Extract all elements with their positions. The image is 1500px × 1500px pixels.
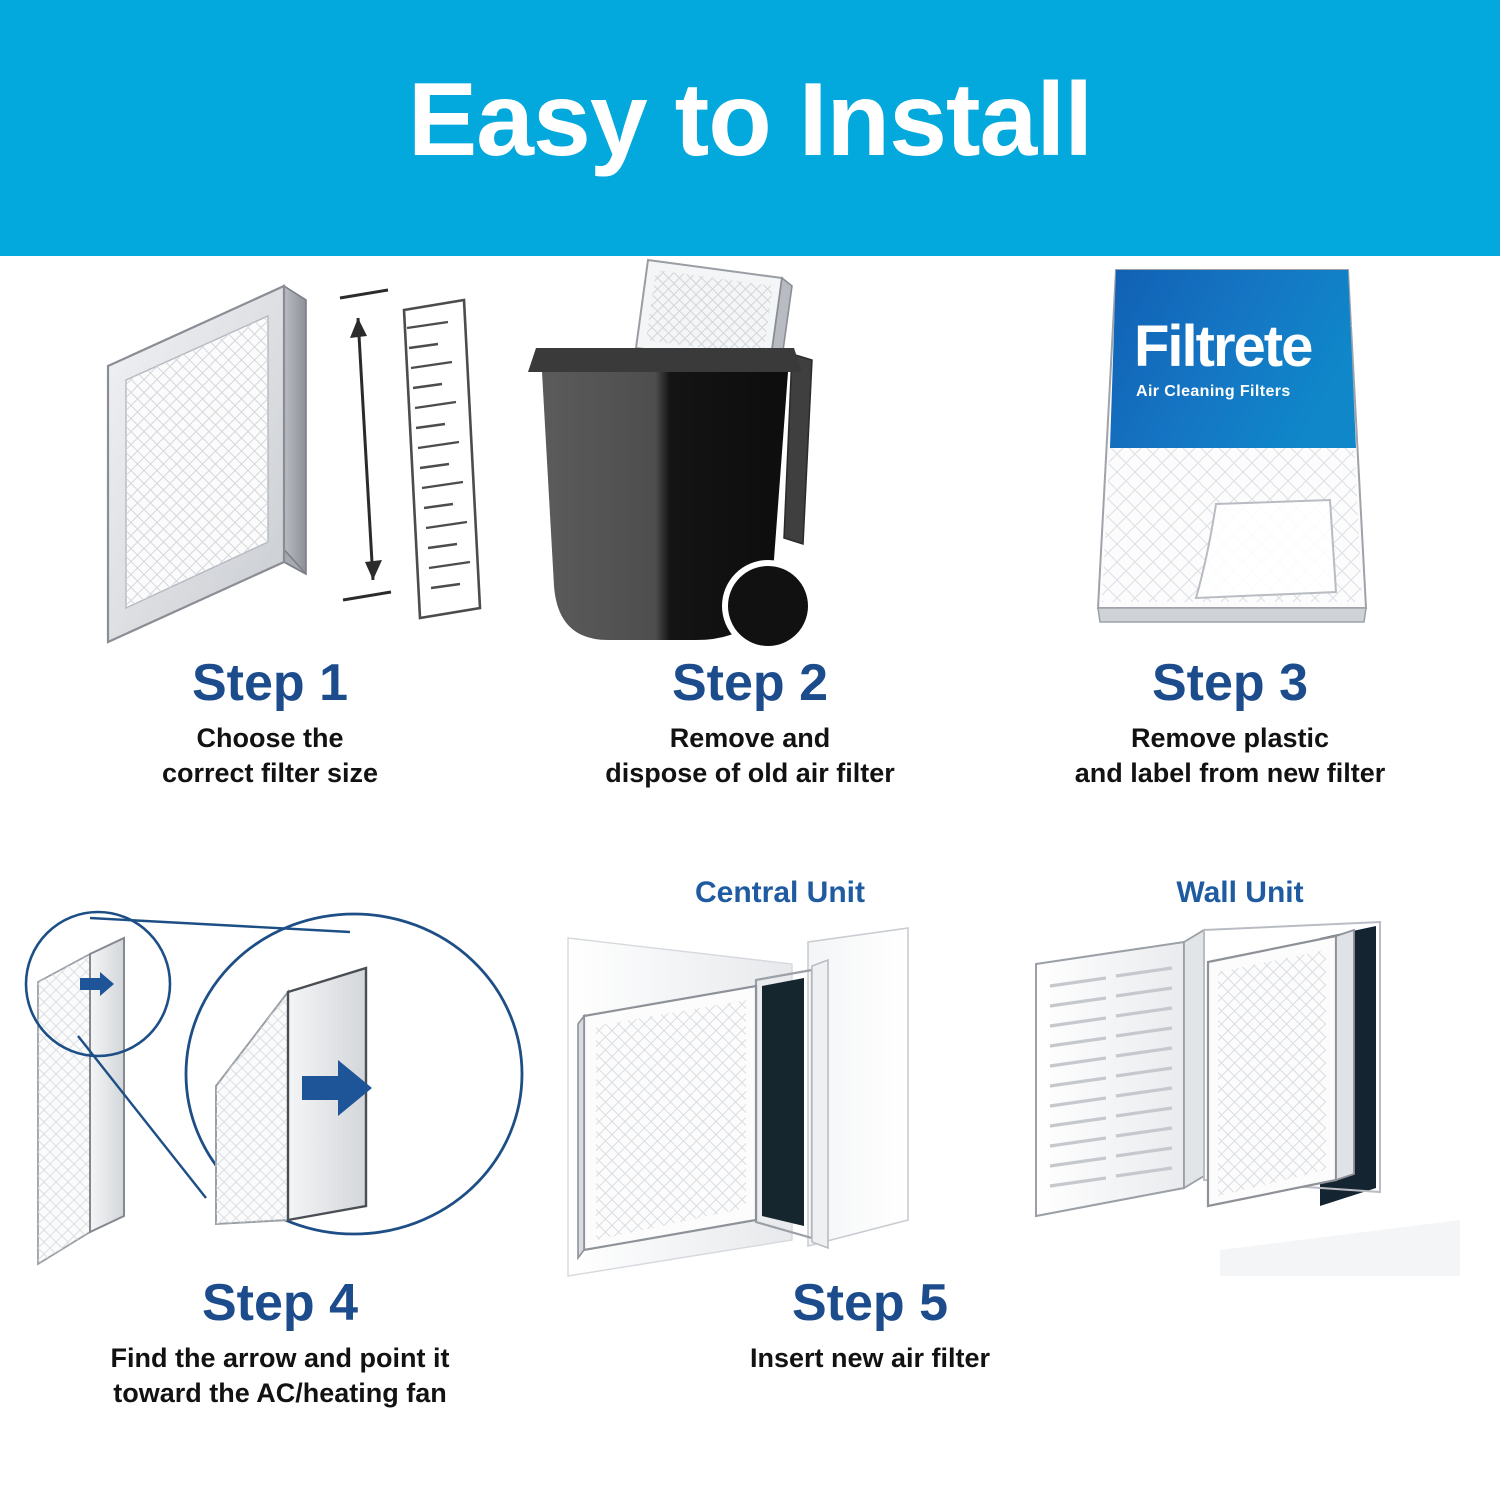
central-unit-icon <box>560 920 1000 1276</box>
package-trademark: ™ <box>1350 323 1366 340</box>
steps-row-bottom: Step 4 Find the arrow and point it towar… <box>0 876 1500 1500</box>
step-1-title: Step 1 <box>192 656 348 711</box>
step-5-illustration-group: Central Unit <box>560 876 1480 1276</box>
ruler-icon <box>404 300 480 618</box>
trash-bin-with-filter-icon <box>520 256 980 656</box>
step-4-caption: Find the arrow and point it toward the A… <box>111 1341 450 1412</box>
central-unit-block: Central Unit <box>560 876 1000 1276</box>
central-unit-label: Central Unit <box>560 876 1000 910</box>
steps-row-top: Step 1 Choose the correct filter size <box>0 256 1500 876</box>
package-tagline: Air Cleaning Filters <box>1136 383 1291 400</box>
package-brand: Filtrete <box>1134 314 1312 379</box>
step-card-4: Step 4 Find the arrow and point it towar… <box>20 876 540 1500</box>
filter-with-ruler-icon <box>40 256 500 656</box>
step-5-caption: Insert new air filter <box>750 1341 990 1377</box>
step-2-illustration <box>520 256 980 656</box>
step-3-title: Step 3 <box>1152 656 1308 711</box>
step-1-illustration <box>40 256 500 656</box>
step-card-1: Step 1 Choose the correct filter size <box>40 256 500 876</box>
step-3-caption: Remove plastic and label from new filter <box>1075 721 1386 792</box>
measure-arrow-icon <box>340 290 391 600</box>
wall-unit-label: Wall Unit <box>1020 876 1460 910</box>
step-4-title: Step 4 <box>202 1276 358 1331</box>
step-card-5: Central Unit <box>560 876 1480 1500</box>
filter-arrow-magnifier-icon <box>20 876 540 1276</box>
step-2-caption: Remove and dispose of old air filter <box>605 721 895 792</box>
step-2-title: Step 2 <box>672 656 828 711</box>
filtrete-package-icon: Filtrete ™ Air Cleaning Filters <box>1000 256 1460 656</box>
step-card-2: Step 2 Remove and dispose of old air fil… <box>520 256 980 876</box>
wall-unit-block: Wall Unit <box>1020 876 1460 1276</box>
infographic-page: Easy to Install <box>0 0 1500 1500</box>
header-banner: Easy to Install <box>0 0 1500 256</box>
step-1-caption: Choose the correct filter size <box>162 721 378 792</box>
step-5-title: Step 5 <box>792 1276 948 1331</box>
step-4-illustration <box>20 876 540 1276</box>
step-3-illustration: Filtrete ™ Air Cleaning Filters <box>1000 256 1460 656</box>
wall-unit-icon <box>1020 920 1460 1276</box>
step-card-3: Filtrete ™ Air Cleaning Filters Step 3 R… <box>1000 256 1460 876</box>
page-title: Easy to Install <box>408 68 1092 188</box>
